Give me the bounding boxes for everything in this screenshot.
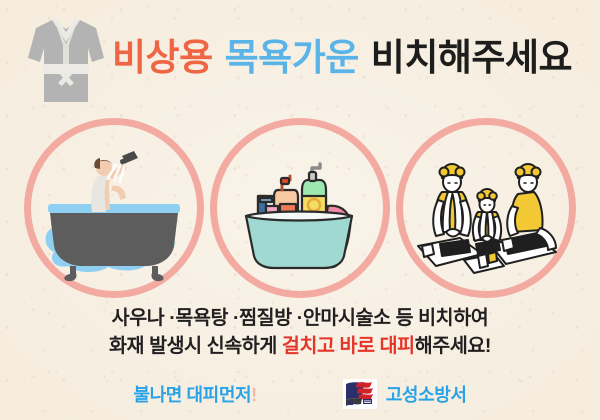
title-word-provide: 비치해주세요: [371, 39, 572, 76]
body-copy: 사우나 ·목욕탕 ·찜질방 ·안마시술소 등 비치하여 화재 발생시 신속하게 …: [0, 304, 600, 360]
body-line-2: 화재 발생시 신속하게 걸치고 바로 대피해주세요!: [0, 332, 600, 360]
gosung-fire-station-logo: [343, 379, 377, 409]
bathrobe-icon: [22, 12, 110, 108]
sauna-people-illustration: [406, 128, 566, 288]
slogan-text: 불나면 대피먼저: [133, 385, 251, 405]
panel-sauna-people: [396, 118, 576, 298]
agency-name: 고성소방서: [386, 381, 467, 407]
body-line-1: 사우나 ·목욕탕 ·찜질방 ·안마시술소 등 비치하여: [0, 304, 600, 332]
body-line-2-highlight: 걸치고 바로 대피: [282, 335, 415, 357]
slogan-exclamation: !: [251, 385, 257, 405]
poster-footer: 불나면 대피먼저!: [0, 376, 600, 412]
bath-basin-toiletries-illustration: [220, 128, 380, 288]
agency-group: 고성소방서: [343, 379, 467, 409]
panel-toiletries: [210, 118, 390, 298]
panel-bathtub: [24, 118, 204, 298]
bathtub-shower-illustration: [34, 128, 194, 288]
poster-canvas: 비상용 목욕가운 비치해주세요: [0, 0, 600, 420]
title-word-bathrobe: 목욕가운: [225, 39, 359, 76]
poster-header: 비상용 목욕가운 비치해주세요: [0, 0, 600, 112]
title-word-emergency: 비상용: [112, 39, 213, 76]
body-line-2-prefix: 화재 발생시 신속하게: [109, 335, 282, 357]
illustration-panels: [0, 118, 600, 298]
campaign-slogan: 불나면 대피먼저!: [133, 381, 256, 407]
body-line-2-suffix: 해주세요!: [415, 335, 491, 357]
page-title: 비상용 목욕가운 비치해주세요: [112, 20, 590, 94]
